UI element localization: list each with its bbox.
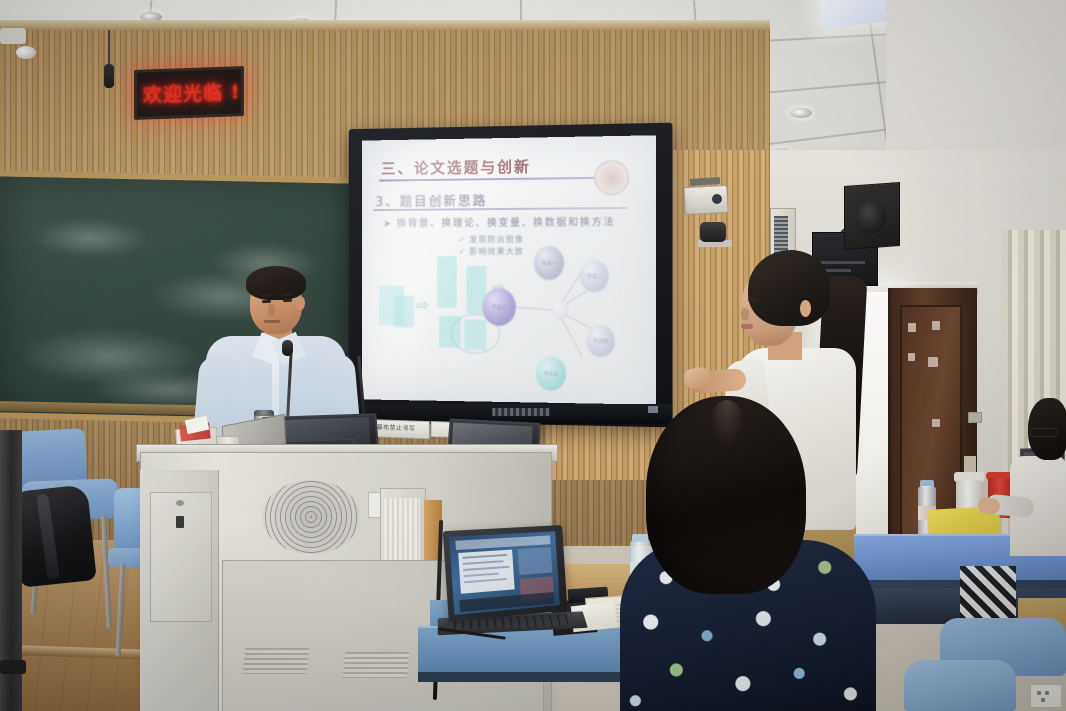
- slide-title: 三、论文选题与创新: [381, 156, 531, 179]
- ptz-camera: [700, 222, 726, 242]
- bottle-cap: [632, 534, 648, 542]
- network-node: 节点三: [482, 288, 516, 326]
- wall-microphone: [104, 64, 114, 88]
- standing-woman-eye: [748, 298, 759, 303]
- microphone: [282, 340, 293, 356]
- standing-woman-nose: [741, 308, 749, 320]
- projector-lens-icon: [712, 194, 722, 204]
- flow-block: [395, 296, 414, 328]
- mic-cable: [108, 30, 110, 66]
- cabinet-knob[interactable]: [176, 500, 184, 506]
- standing-woman-ear: [800, 300, 811, 317]
- led-scrolling-sign: 欢迎光临 !: [134, 66, 244, 120]
- university-seal-icon: [594, 160, 629, 195]
- standing-woman-lips: [741, 324, 753, 329]
- presenter-eyebrow: [282, 293, 294, 296]
- podium-cabinet-door[interactable]: [150, 492, 212, 622]
- network-hub: [552, 300, 568, 320]
- blue-chair[interactable]: [904, 660, 1016, 711]
- presenter-mouth: [264, 320, 280, 323]
- classroom-photo: 欢迎光临 ! 三、论文选题与创新 3、题目创新思路 ➤换背景、换理论、换变量、换…: [0, 0, 1066, 711]
- presenter-hair: [246, 266, 306, 300]
- glasses-icon: [1030, 428, 1058, 437]
- wall-trim: [0, 20, 770, 30]
- slide-subpoint: ✓发现防治图像: [459, 234, 524, 245]
- presenter-ear: [296, 296, 305, 310]
- podium-vent: [343, 652, 410, 678]
- podium-speaker-perforation: [262, 480, 360, 554]
- led-sign-text: 欢迎光临 !: [143, 77, 237, 107]
- presenter-eye: [283, 299, 292, 302]
- screen-status-led-icon: [648, 406, 658, 413]
- flow-arrow-icon: ⇨: [416, 296, 429, 316]
- light-switch[interactable]: [968, 412, 982, 423]
- screen-control-strip[interactable]: [492, 408, 550, 416]
- network-node: 节点五: [536, 356, 566, 391]
- bullet-marker-icon: ➤: [383, 219, 393, 230]
- desk-power-outlet[interactable]: [1030, 684, 1062, 708]
- standing-woman-hair: [748, 250, 830, 326]
- slide-bullet-text: 换背景、换理论、换变量、换数据和换方法: [396, 217, 615, 229]
- slide-section-heading: 3、题目创新思路: [375, 190, 487, 210]
- speaker-cone-icon: [856, 200, 886, 234]
- slide-subpoint: ✓影响效果大致: [459, 246, 524, 257]
- network-node: 节点二: [580, 260, 608, 292]
- post-base: [0, 660, 26, 674]
- presenter-eye: [262, 300, 271, 303]
- laptop-screen[interactable]: [449, 531, 560, 615]
- plaid-bag: [960, 566, 1016, 620]
- check-icon: ✓: [459, 247, 467, 256]
- slide-subpoint-text: 发现防治图像: [469, 235, 524, 244]
- hair-parting: [710, 400, 744, 446]
- recessed-downlight: [790, 108, 812, 118]
- projection-screen: 三、论文选题与创新 3、题目创新思路 ➤换背景、换理论、换变量、换数据和换方法 …: [362, 135, 656, 404]
- podium-vent: [243, 648, 310, 674]
- presenter-nose: [268, 304, 275, 316]
- network-node: 节点一: [534, 246, 564, 280]
- flow-block: [437, 256, 457, 308]
- wall-camera-icon: [0, 28, 26, 44]
- slide-subpoint-text: 影响效果大致: [469, 247, 524, 256]
- network-node: 节点四: [586, 325, 615, 358]
- slide-bullet: ➤换背景、换理论、换变量、换数据和换方法: [383, 213, 615, 230]
- cabinet-lock-icon[interactable]: [176, 516, 184, 528]
- smoke-detector-icon: [16, 46, 36, 59]
- check-icon: ✓: [459, 235, 467, 244]
